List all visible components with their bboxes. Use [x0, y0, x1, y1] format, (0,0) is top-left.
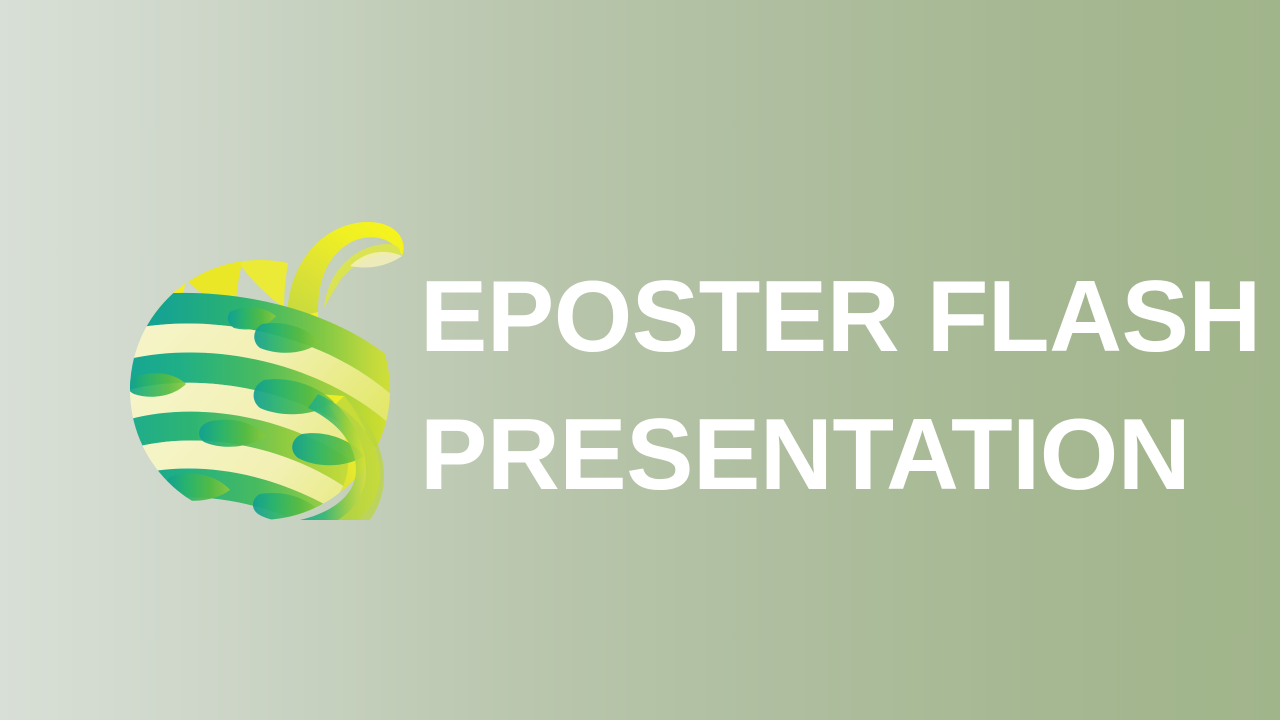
title-line-1: EPOSTER FLASH [420, 248, 1220, 386]
slide-title: EPOSTER FLASH PRESENTATION [420, 248, 1220, 524]
title-line-2: PRESENTATION [420, 386, 1220, 524]
slide-canvas: EPOSTER FLASH PRESENTATION [0, 0, 1280, 720]
brand-logo [112, 208, 408, 520]
